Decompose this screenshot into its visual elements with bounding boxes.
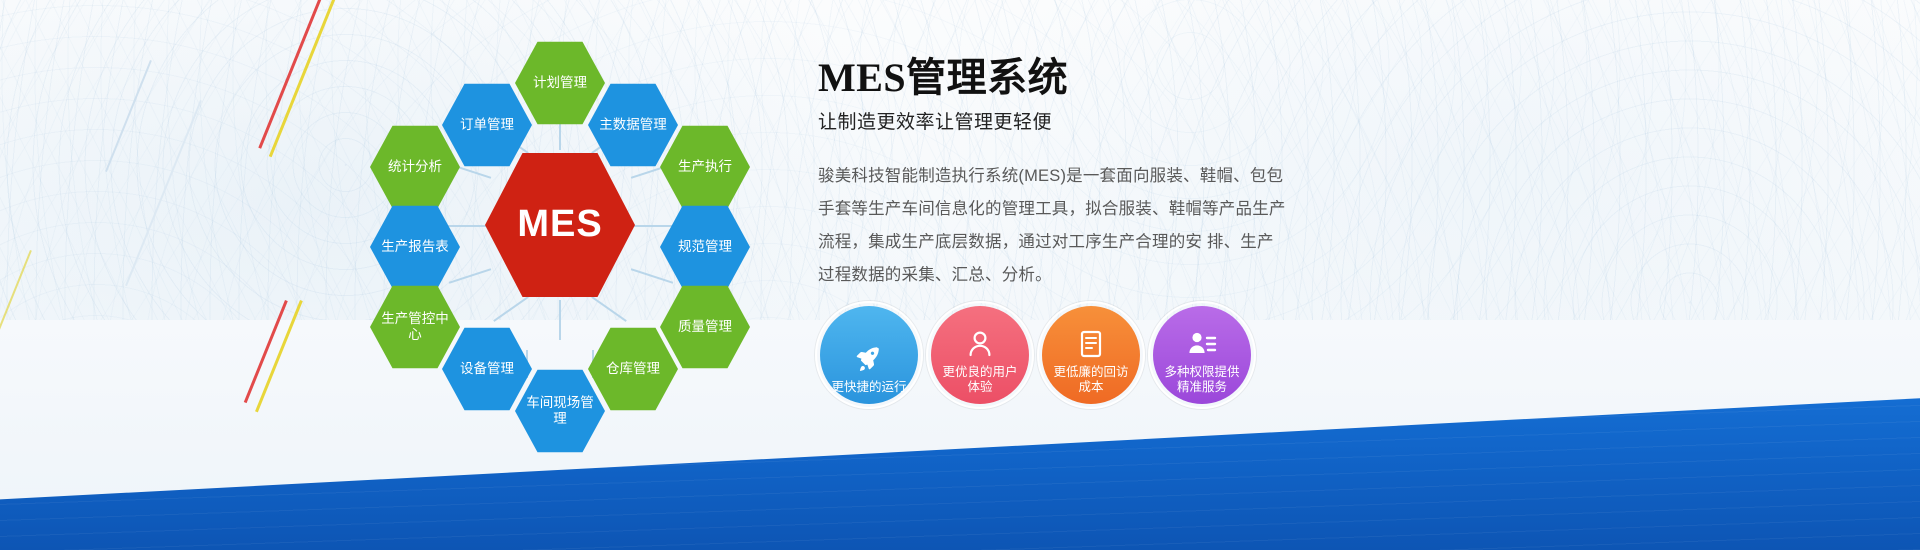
- user-icon: [964, 328, 996, 360]
- accent-stroke-red: [258, 0, 324, 149]
- banner-content: MES管理系统 让制造更效率让管理更轻便 骏美科技智能制造执行系统(MES)是一…: [818, 55, 1288, 292]
- page-title: MES管理系统: [818, 55, 1288, 101]
- mes-hex-diagram: MES 计划管理 订单管理 主数据管理 统计分析 生产执行 生产报告表 规范管理…: [330, 20, 790, 440]
- badge-permission-precise-service[interactable]: 多种权限提供精准服务: [1153, 306, 1251, 404]
- hex-node-production-report[interactable]: 生产报告表: [370, 204, 460, 290]
- hex-center[interactable]: MES: [485, 150, 635, 300]
- hex-node-label: 设备管理: [454, 361, 520, 377]
- document-icon: [1075, 328, 1107, 360]
- hex-node-specification-management[interactable]: 规范管理: [660, 204, 750, 290]
- page-description: 骏美科技智能制造执行系统(MES)是一套面向服装、鞋帽、包包手套等生产车间信息化…: [818, 160, 1288, 292]
- badge-better-user-experience[interactable]: 更优良的用户体验: [931, 306, 1029, 404]
- rocket-icon: [853, 343, 885, 375]
- hex-node-label: 质量管理: [672, 319, 738, 335]
- mes-banner: MES 计划管理 订单管理 主数据管理 统计分析 生产执行 生产报告表 规范管理…: [0, 0, 1920, 550]
- badge-label: 更快捷的运行: [825, 380, 912, 395]
- hex-node-label: 生产执行: [672, 159, 738, 175]
- hex-node-statistical-analysis[interactable]: 统计分析: [370, 124, 460, 210]
- badge-label: 更优良的用户体验: [931, 365, 1029, 395]
- permission-icon: [1186, 328, 1218, 360]
- badge-faster-operation[interactable]: 更快捷的运行: [820, 306, 918, 404]
- badge-label: 多种权限提供精准服务: [1153, 365, 1251, 395]
- feature-badges: 更快捷的运行 更优良的用户体验 更低廉的回访成本: [820, 306, 1251, 404]
- hex-center-label: MES: [511, 203, 608, 247]
- hex-node-label: 生产报告表: [375, 239, 455, 255]
- hex-node-label: 车间现场管理: [515, 395, 605, 426]
- badge-label: 更低廉的回访成本: [1042, 365, 1140, 395]
- hex-node-label: 统计分析: [382, 159, 448, 175]
- hex-node-label: 订单管理: [454, 117, 520, 133]
- hex-node-production-execution[interactable]: 生产执行: [660, 124, 750, 210]
- badge-lower-revisit-cost[interactable]: 更低廉的回访成本: [1042, 306, 1140, 404]
- page-subtitle: 让制造更效率让管理更轻便: [818, 107, 1288, 134]
- accent-stroke-light-2: [125, 100, 202, 286]
- hex-node-label: 仓库管理: [600, 361, 666, 377]
- accent-stroke-light-1: [105, 60, 152, 172]
- hex-node-label: 规范管理: [672, 239, 738, 255]
- hex-node-workshop-site-management[interactable]: 车间现场管理: [515, 368, 605, 454]
- hex-node-label: 计划管理: [527, 75, 593, 91]
- spoke: [559, 300, 561, 340]
